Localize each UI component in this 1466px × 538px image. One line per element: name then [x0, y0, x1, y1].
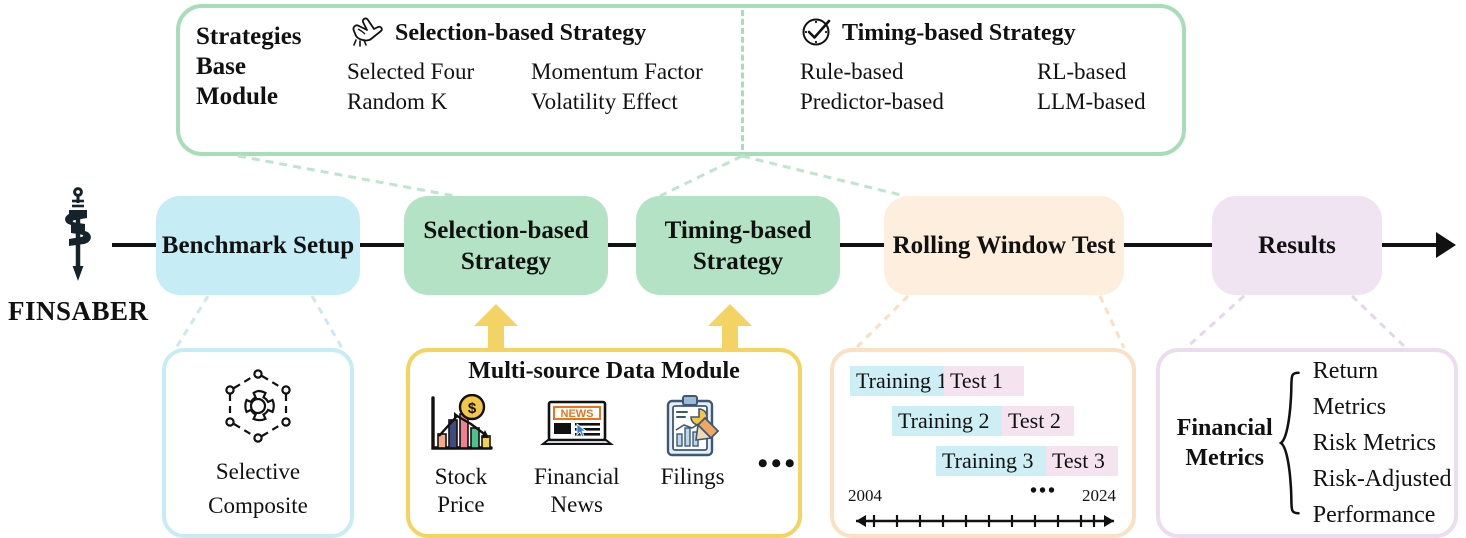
data-source-financial-news[interactable]: NEWS Financial News: [526, 391, 628, 519]
clock-check-icon: [800, 14, 834, 53]
selective-composite-label-1: Selective: [208, 455, 308, 489]
multi-source-title: Multi-source Data Module: [410, 358, 798, 385]
timing-item-3: Predictor-based: [800, 89, 1015, 115]
timeline-start-year: 2004: [848, 486, 882, 506]
stage-results[interactable]: Results: [1212, 196, 1382, 295]
timing-strategy-title: Timing-based Strategy: [842, 20, 1076, 47]
stage-timing-based-strategy[interactable]: Timing-based Strategy: [636, 196, 840, 295]
stage-rolling-window-test-label: Rolling Window Test: [893, 230, 1116, 261]
rolling-row-3: Training 3 Test 3: [834, 446, 1132, 476]
selection-strategy-title: Selection-based Strategy: [395, 20, 646, 47]
timeline-axis: [842, 508, 1128, 534]
selective-composite-panel: Selective Composite: [162, 348, 354, 538]
financial-metric-1: Return Metrics: [1313, 353, 1454, 425]
flow-line-2: [358, 243, 406, 247]
flow-line-5: [1122, 243, 1214, 247]
flow-line-4: [838, 243, 886, 247]
timing-strategy-items: Rule-based RL-based Predictor-based LLM-…: [800, 59, 1170, 115]
module-title-line-1: Strategies: [196, 22, 336, 52]
module-title-line-3: Module: [196, 82, 336, 112]
rolling-row-1: Training 1 Test 1: [834, 366, 1132, 396]
rolling-window-detail-panel: Training 1 Test 1 Training 2 Test 2 Trai…: [830, 348, 1136, 538]
svg-text:NEWS: NEWS: [560, 408, 593, 420]
financial-metrics-panel: Financial Metrics Return Metrics Risk Me…: [1156, 348, 1458, 538]
test-block-2: Test 2: [1002, 406, 1074, 436]
timeline-end-year: 2024: [1082, 486, 1116, 506]
multi-source-items: $ Stock Price NEWS Financial Ne: [410, 391, 798, 519]
yellow-arrow-selection-icon: [474, 304, 518, 352]
flow-line-1: [112, 243, 158, 247]
financial-metric-3: Risk-Adjusted: [1313, 461, 1454, 497]
flow-line-3: [606, 243, 638, 247]
stage-rolling-window-test[interactable]: Rolling Window Test: [884, 196, 1124, 295]
svg-text:$: $: [468, 400, 477, 417]
training-block-2: Training 2: [892, 406, 1014, 436]
stage-selection-based-strategy[interactable]: Selection-based Strategy: [404, 196, 608, 295]
selective-composite-label-2: Composite: [208, 489, 308, 523]
test-block-3: Test 3: [1046, 446, 1118, 476]
stage-selection-based-strategy-label: Selection-based Strategy: [404, 215, 608, 277]
test-block-1: Test 1: [944, 366, 1024, 396]
curly-brace-icon: [1277, 367, 1302, 519]
selection-strategy-items: Selected Four Momentum Factor Random K V…: [347, 59, 727, 115]
stage-timing-based-strategy-label: Timing-based Strategy: [636, 215, 840, 277]
multi-source-data-module-panel: Multi-source Data Module $ Stock: [406, 348, 802, 538]
data-source-stock-price[interactable]: $ Stock Price: [410, 391, 512, 519]
yellow-arrow-timing-icon: [708, 304, 752, 352]
timing-strategy-header: Timing-based Strategy: [800, 14, 1170, 53]
strategies-panel-divider: [741, 10, 744, 150]
timing-item-4: LLM-based: [1037, 89, 1170, 115]
hexagon-gear-icon: [215, 366, 301, 451]
selection-item-4: Volatility Effect: [531, 89, 727, 115]
financial-metrics-label: Financial Metrics: [1172, 413, 1277, 473]
timing-based-strategy-group: Timing-based Strategy Rule-based RL-base…: [800, 14, 1170, 115]
stage-results-label: Results: [1258, 230, 1336, 261]
data-source-financial-news-label: Financial News: [526, 463, 628, 519]
selection-based-strategy-group: Selection-based Strategy Selected Four M…: [347, 14, 727, 115]
strategies-base-module-title: Strategies Base Module: [196, 22, 336, 112]
timing-item-1: Rule-based: [800, 59, 1015, 85]
stock-chart-dollar-icon: $: [410, 391, 512, 463]
stage-benchmark-setup[interactable]: Benchmark Setup: [156, 196, 360, 295]
data-source-filings[interactable]: Filings: [642, 391, 744, 491]
stage-benchmark-setup-label: Benchmark Setup: [162, 230, 354, 261]
training-block-3: Training 3: [936, 446, 1058, 476]
selection-item-2: Momentum Factor: [531, 59, 727, 85]
rolling-row-2: Training 2 Test 2: [834, 406, 1132, 436]
selection-item-1: Selected Four: [347, 59, 509, 85]
sword-dollar-icon: [8, 185, 148, 294]
clipboard-report-icon: [642, 391, 744, 463]
selective-composite-labels: Selective Composite: [208, 455, 308, 523]
flow-line-6: [1380, 243, 1442, 247]
multi-source-ellipsis: •••: [757, 391, 798, 481]
timeline-ellipsis: •••: [1030, 480, 1057, 503]
timing-item-2: RL-based: [1037, 59, 1170, 85]
data-source-filings-label: Filings: [642, 463, 744, 491]
news-laptop-icon: NEWS: [526, 391, 628, 463]
selection-item-3: Random K: [347, 89, 509, 115]
flow-arrow-head-icon: [1436, 232, 1456, 258]
module-title-line-2: Base: [196, 52, 336, 82]
data-source-stock-price-label: Stock Price: [410, 463, 512, 519]
multi-source-feed-arrows: [466, 300, 786, 352]
financial-metrics-list: Return Metrics Risk Metrics Risk-Adjuste…: [1313, 353, 1454, 533]
financial-metric-2: Risk Metrics: [1313, 425, 1454, 461]
training-block-1: Training 1: [850, 366, 956, 396]
financial-metric-4: Performance: [1313, 497, 1454, 533]
hand-click-icon: [347, 14, 387, 53]
selection-strategy-header: Selection-based Strategy: [347, 14, 727, 53]
